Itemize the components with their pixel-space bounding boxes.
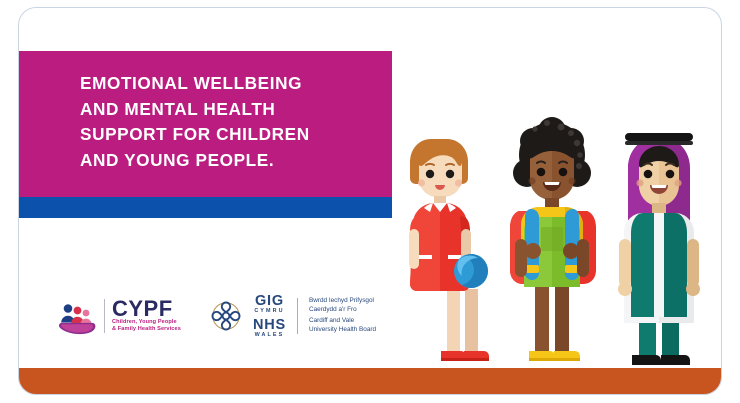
nhs-acronym: NHS	[253, 318, 286, 333]
slide-card: EMOTIONAL WELLBEING AND MENTAL HEALTH SU…	[18, 7, 722, 395]
cypf-logo: CYPF Children, Young People & Family Hea…	[57, 296, 181, 336]
hand-holding-family-icon	[57, 296, 97, 336]
nhs-wales-logo: GIG CYMRU NHS WALES Bwrdd Iechyd Prifysg…	[205, 294, 376, 339]
board-line-english-1: Cardiff and Vale	[309, 317, 376, 326]
accent-bar	[19, 197, 392, 218]
child-girl-green-pinafore	[510, 117, 596, 361]
cypf-divider	[104, 299, 105, 333]
cypf-subtitle-line1: Children, Young People	[112, 319, 181, 326]
title-band: EMOTIONAL WELLBEING AND MENTAL HEALTH SU…	[19, 51, 392, 197]
page-title: EMOTIONAL WELLBEING AND MENTAL HEALTH SU…	[80, 71, 380, 173]
logo-row: CYPF Children, Young People & Family Hea…	[57, 289, 376, 343]
board-line-english-2: University Health Board	[309, 326, 376, 335]
footer-bar	[19, 368, 721, 394]
cymru-label: CYMRU	[254, 309, 284, 314]
three-children-illustration	[409, 103, 719, 378]
child-girl-red-dress	[409, 139, 489, 361]
cypf-wordmark: CYPF	[112, 299, 181, 319]
nhs-divider	[297, 298, 298, 334]
child-boy-keffiyeh	[618, 133, 700, 365]
nhs-board-name: Bwrdd Iechyd Prifysgol Caerdydd a'r Fro …	[309, 297, 376, 335]
board-line-welsh-1: Bwrdd Iechyd Prifysgol	[309, 297, 376, 306]
gig-acronym: GIG	[255, 294, 284, 309]
wales-label: WALES	[255, 333, 285, 338]
nhs-wordmark-block: GIG CYMRU NHS WALES	[253, 294, 286, 339]
celtic-knot-icon	[205, 296, 247, 336]
cypf-text-block: CYPF Children, Young People & Family Hea…	[112, 299, 181, 333]
cypf-subtitle-line2: & Family Health Services	[112, 326, 181, 333]
board-line-welsh-2: Caerdydd a'r Fro	[309, 306, 376, 315]
